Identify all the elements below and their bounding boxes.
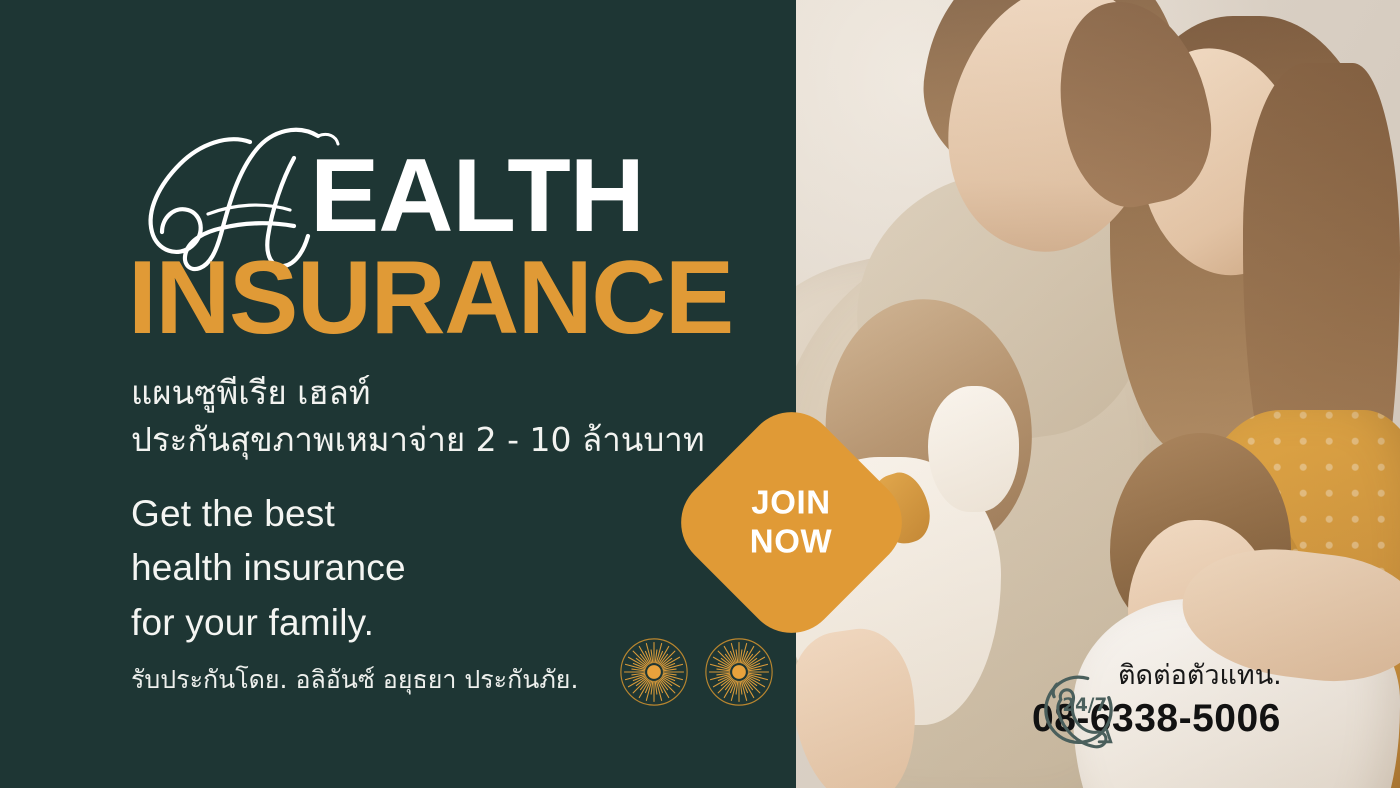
headline-block: EALTH INSURANCE — [128, 126, 788, 356]
tagline-line-1: Get the best — [131, 487, 406, 541]
sunburst-decor-group — [618, 636, 775, 708]
thai-subheading-line-2: ประกันสุขภาพเหมาจ่าย 2 - 10 ล้านบาท — [131, 417, 705, 464]
phone-24-7-label: 24/7 — [1062, 695, 1107, 716]
headline-insurance: INSURANCE — [128, 246, 733, 350]
toddler-sleeve — [928, 386, 1019, 512]
headline-ealth: EALTH — [310, 144, 644, 248]
english-tagline: Get the best health insurance for your f… — [131, 487, 406, 650]
join-now-line-1: JOIN — [750, 484, 832, 523]
contact-agent-label: ติดต่อตัวแทน. — [1118, 661, 1282, 691]
thai-subheading-line-1: แผนซูพีเรีย เฮลท์ — [131, 370, 705, 417]
contact-block[interactable]: 24/7 ติดต่อตัวแทน. 08-6338-5006 — [1032, 661, 1282, 743]
join-now-label: JOIN NOW — [750, 484, 832, 562]
tagline-line-3: for your family. — [131, 596, 406, 650]
join-now-line-2: NOW — [750, 522, 832, 561]
tagline-line-2: health insurance — [131, 541, 406, 595]
thai-subheading: แผนซูพีเรีย เฮลท์ ประกันสุขภาพเหมาจ่าย 2… — [131, 370, 705, 464]
sunburst-icon — [618, 636, 690, 708]
phone-24-7-icon: 24/7 — [1032, 665, 1128, 761]
health-insurance-banner: EALTH INSURANCE แผนซูพีเรีย เฮลท์ ประกัน… — [0, 0, 1400, 788]
underwriter-credit: รับประกันโดย. อลิอันซ์ อยุธยา ประกันภัย. — [131, 660, 578, 700]
sunburst-icon — [703, 636, 775, 708]
